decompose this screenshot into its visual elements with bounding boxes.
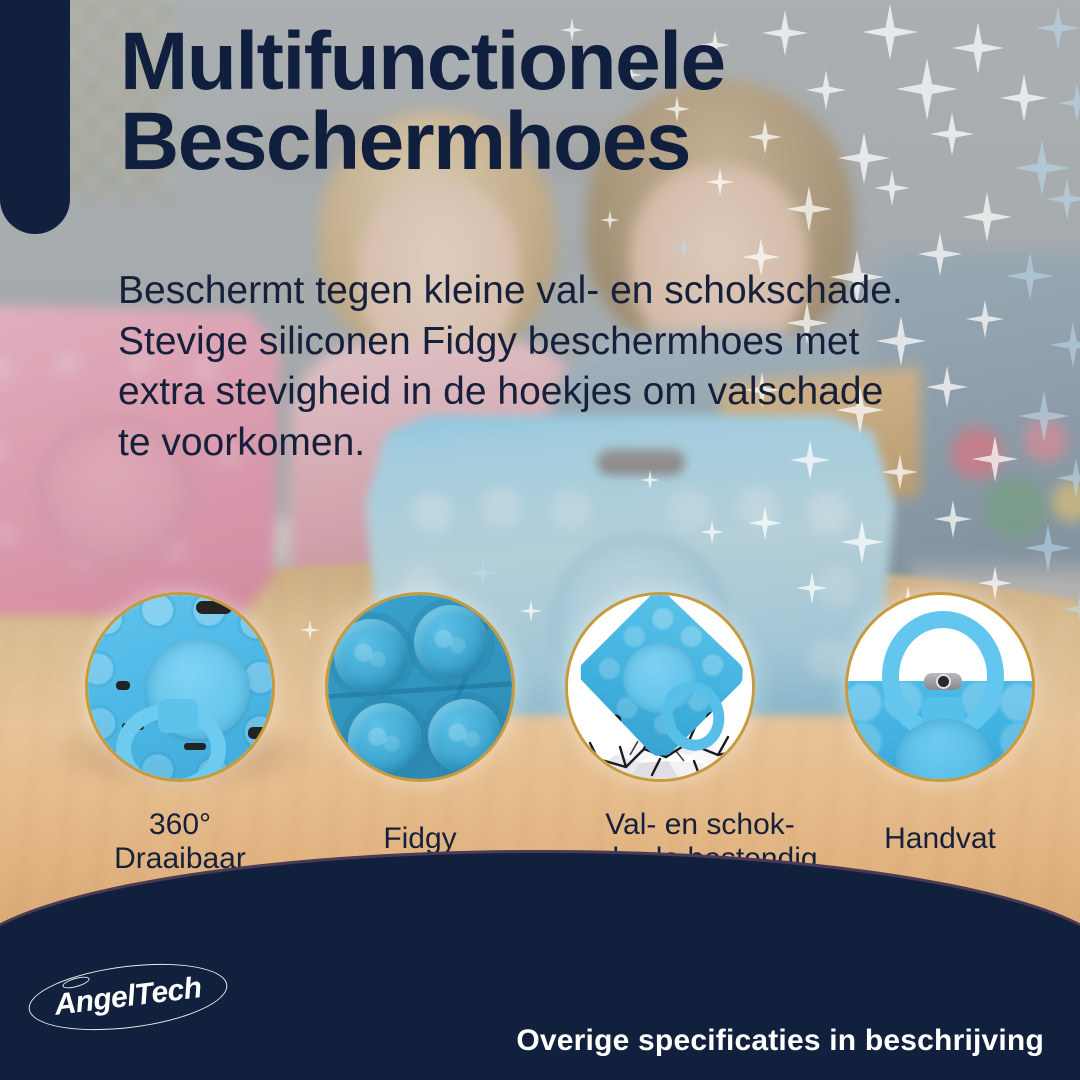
product-infographic: Multifunctionele Beschermhoes Beschermt …: [0, 0, 1080, 1080]
title-line-2: Beschermhoes: [120, 102, 1020, 182]
camera-cutout-icon: [196, 601, 232, 614]
description-line-4: te voorkomen.: [118, 418, 1048, 469]
caption-line-1: Handvat: [810, 822, 1070, 856]
brand-name: AngelTech: [25, 954, 231, 1040]
page-title: Multifunctionele Beschermhoes: [120, 22, 1020, 183]
drop-shock-resistant-icon: [565, 592, 755, 782]
caption-line-1: 360°: [50, 808, 310, 842]
brand-logo: AngelTech: [28, 966, 228, 1028]
product-description: Beschermt tegen kleine val- en schokscha…: [118, 266, 1048, 469]
description-line-2: Stevige siliconen Fidgy beschermhoes met: [118, 317, 1048, 368]
camera-cutout-icon: [924, 673, 962, 690]
corner-accent-tab: [0, 0, 70, 234]
fidget-bubbles-icon: [325, 592, 515, 782]
caption-line-1: Val- en schok-: [550, 808, 850, 842]
description-line-3: extra stevigheid in de hoekjes om valsch…: [118, 367, 1048, 418]
title-line-1: Multifunctionele: [120, 16, 725, 107]
rotating-ring-stand-icon: [85, 592, 275, 782]
footer-tagline: Overige specificaties in beschrijving: [516, 1024, 1044, 1058]
feature-handle-caption: Handvat: [810, 822, 1070, 856]
description-line-1: Beschermt tegen kleine val- en schokscha…: [118, 266, 1048, 317]
carry-handle-icon: [845, 592, 1035, 782]
